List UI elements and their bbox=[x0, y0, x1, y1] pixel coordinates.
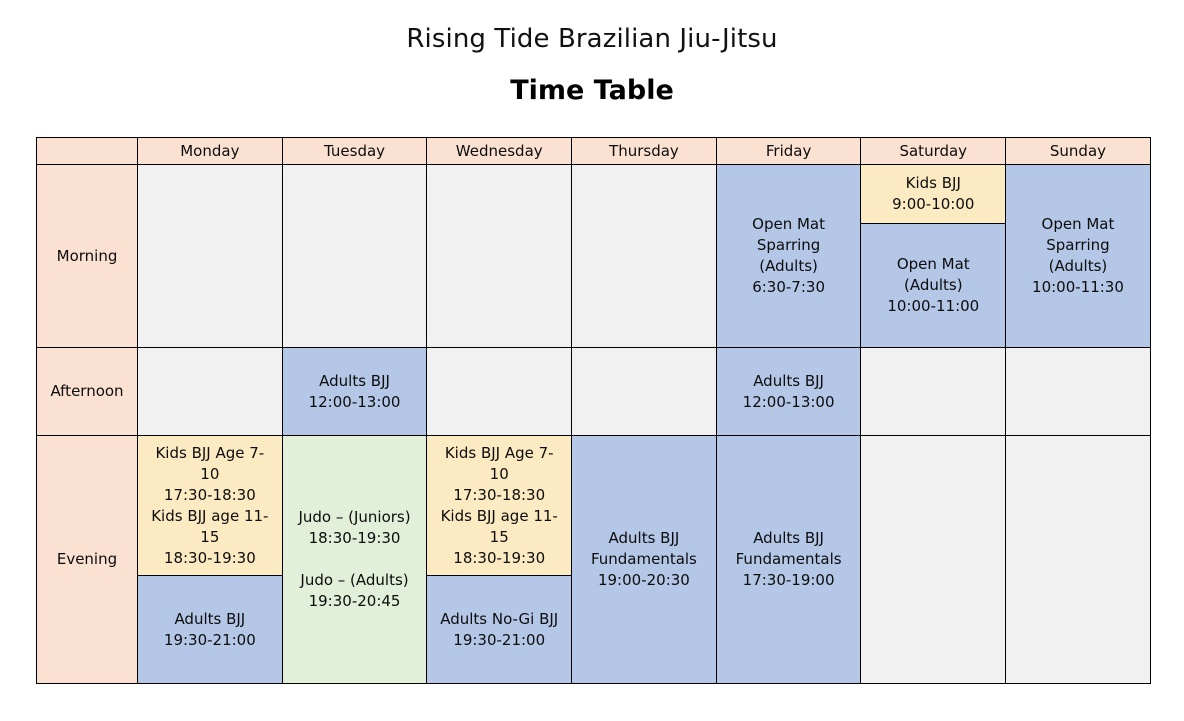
cell-morning-monday bbox=[138, 165, 283, 348]
cell-afternoon-monday bbox=[138, 348, 283, 436]
page-title: Rising Tide Brazilian Jiu-Jitsu bbox=[0, 22, 1184, 56]
cell-evening-wednesday-kids: Kids BJJ Age 7-10 17:30-18:30 Kids BJJ a… bbox=[427, 436, 571, 575]
cell-morning-saturday: Kids BJJ 9:00-10:00 Open Mat (Adults) 10… bbox=[861, 165, 1006, 348]
cell-afternoon-friday: Adults BJJ 12:00-13:00 bbox=[716, 348, 861, 436]
cell-afternoon-saturday bbox=[861, 348, 1006, 436]
cell-evening-monday-kids: Kids BJJ Age 7-10 17:30-18:30 Kids BJJ a… bbox=[138, 436, 282, 575]
title-block: Rising Tide Brazilian Jiu-Jitsu Time Tab… bbox=[0, 0, 1184, 108]
header-saturday: Saturday bbox=[861, 138, 1006, 165]
cell-evening-sunday bbox=[1006, 436, 1151, 684]
header-monday: Monday bbox=[138, 138, 283, 165]
cell-text bbox=[427, 390, 571, 394]
cell-text bbox=[138, 254, 282, 258]
row-label-morning: Morning bbox=[37, 165, 138, 348]
cell-text bbox=[572, 254, 716, 258]
cell-text: Judo – (Juniors) 18:30-19:30 Judo – (Adu… bbox=[283, 505, 427, 614]
header-thursday: Thursday bbox=[572, 138, 717, 165]
cell-text bbox=[861, 558, 1005, 562]
cell-text bbox=[283, 254, 427, 258]
table-row: Afternoon Adults BJJ 12:00-13:00 bbox=[37, 348, 1151, 436]
cell-text bbox=[427, 254, 571, 258]
timetable: Monday Tuesday Wednesday Thursday Friday… bbox=[36, 137, 1151, 684]
cell-evening-monday: Kids BJJ Age 7-10 17:30-18:30 Kids BJJ a… bbox=[138, 436, 283, 684]
table-header-row: Monday Tuesday Wednesday Thursday Friday… bbox=[37, 138, 1151, 165]
cell-morning-friday: Open Mat Sparring (Adults) 6:30-7:30 bbox=[716, 165, 861, 348]
cell-text: Open Mat (Adults) 10:00-11:00 bbox=[882, 252, 984, 319]
timetable-container: Monday Tuesday Wednesday Thursday Friday… bbox=[36, 137, 1150, 684]
table-row: Evening Kids BJJ Age 7-10 17:30-18:30 Ki… bbox=[37, 436, 1151, 684]
cell-morning-wednesday bbox=[427, 165, 572, 348]
cell-afternoon-wednesday bbox=[427, 348, 572, 436]
cell-morning-tuesday bbox=[282, 165, 427, 348]
cell-text bbox=[572, 390, 716, 394]
cell-text: Adults BJJ 19:30-21:00 bbox=[159, 607, 261, 653]
header-wednesday: Wednesday bbox=[427, 138, 572, 165]
header-friday: Friday bbox=[716, 138, 861, 165]
table-row: Morning Open Mat Sparring (Adult bbox=[37, 165, 1151, 348]
cell-afternoon-tuesday: Adults BJJ 12:00-13:00 bbox=[282, 348, 427, 436]
cell-text: Kids BJJ Age 7-10 17:30-18:30 Kids BJJ a… bbox=[431, 441, 567, 571]
header-tuesday: Tuesday bbox=[282, 138, 427, 165]
cell-morning-thursday bbox=[572, 165, 717, 348]
header-sunday: Sunday bbox=[1006, 138, 1151, 165]
cell-evening-wednesday: Kids BJJ Age 7-10 17:30-18:30 Kids BJJ a… bbox=[427, 436, 572, 684]
cell-text: Adults BJJ Fundamentals 17:30-19:00 bbox=[717, 526, 861, 593]
cell-text: Adults BJJ 12:00-13:00 bbox=[283, 369, 427, 415]
cell-evening-friday: Adults BJJ Fundamentals 17:30-19:00 bbox=[716, 436, 861, 684]
cell-text: Adults BJJ 12:00-13:00 bbox=[717, 369, 861, 415]
row-label-evening: Evening bbox=[37, 436, 138, 684]
cell-evening-tuesday: Judo – (Juniors) 18:30-19:30 Judo – (Adu… bbox=[282, 436, 427, 684]
cell-text: Kids BJJ 9:00-10:00 bbox=[887, 171, 979, 217]
cell-text bbox=[1006, 390, 1150, 394]
cell-evening-wednesday-nogi: Adults No-Gi BJJ 19:30-21:00 bbox=[427, 575, 571, 683]
cell-text: Kids BJJ Age 7-10 17:30-18:30 Kids BJJ a… bbox=[142, 441, 278, 571]
cell-afternoon-sunday bbox=[1006, 348, 1151, 436]
row-label-afternoon: Afternoon bbox=[37, 348, 138, 436]
cell-text bbox=[138, 390, 282, 394]
cell-text: Open Mat Sparring (Adults) 10:00-11:30 bbox=[1006, 212, 1150, 300]
cell-evening-thursday: Adults BJJ Fundamentals 19:00-20:30 bbox=[572, 436, 717, 684]
timetable-page: Rising Tide Brazilian Jiu-Jitsu Time Tab… bbox=[0, 0, 1184, 721]
cell-evening-monday-adults: Adults BJJ 19:30-21:00 bbox=[138, 575, 282, 683]
header-corner bbox=[37, 138, 138, 165]
cell-morning-saturday-openmat: Open Mat (Adults) 10:00-11:00 bbox=[861, 223, 1005, 347]
cell-afternoon-thursday bbox=[572, 348, 717, 436]
cell-evening-saturday bbox=[861, 436, 1006, 684]
cell-morning-saturday-kids: Kids BJJ 9:00-10:00 bbox=[861, 165, 1005, 223]
cell-text: Adults BJJ Fundamentals 19:00-20:30 bbox=[572, 526, 716, 593]
cell-text bbox=[1006, 558, 1150, 562]
page-subtitle: Time Table bbox=[0, 74, 1184, 108]
cell-text: Open Mat Sparring (Adults) 6:30-7:30 bbox=[717, 212, 861, 300]
cell-text: Adults No-Gi BJJ 19:30-21:00 bbox=[435, 607, 563, 653]
cell-text bbox=[861, 390, 1005, 394]
cell-morning-sunday: Open Mat Sparring (Adults) 10:00-11:30 bbox=[1006, 165, 1151, 348]
